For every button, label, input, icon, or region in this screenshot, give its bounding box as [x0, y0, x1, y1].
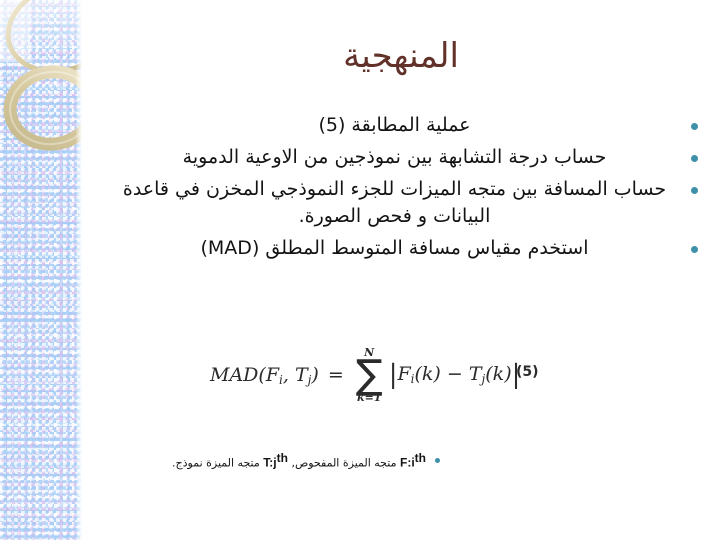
- equation-left-hand-side: MAD(Fi, Tj): [210, 364, 319, 387]
- slide-title: المنهجية: [82, 36, 720, 76]
- equation-term2: T: [469, 363, 482, 385]
- equation-function-name: MAD: [210, 364, 258, 386]
- footnote-text: F:ith متجه الميزة المفحوص, T:jth متجه ال…: [172, 450, 426, 471]
- equation-term1: F: [397, 363, 410, 385]
- footnote-t-description: متجه الميزة نموذج: [176, 457, 260, 470]
- equation-term2-argument: (k): [485, 363, 511, 385]
- footnote-t-label: T:: [263, 456, 273, 470]
- footnote: F:ith متجه الميزة المفحوص, T:jth متجه ال…: [172, 450, 440, 471]
- footnote-t-ordinal-suffix: th: [277, 451, 288, 465]
- equation-comma: ,: [283, 364, 289, 386]
- sigma-icon: ∑: [356, 359, 383, 392]
- footnote-f-description: متجه الميزة المفحوص: [295, 457, 397, 470]
- equation-number: (5): [516, 364, 539, 380]
- equation-arg2: T: [295, 364, 308, 386]
- list-item: حساب المسافة بين متجه الميزات للجزء النم…: [108, 176, 698, 230]
- band-right-edge-fade: [76, 0, 82, 540]
- bullet-dot-icon: [691, 123, 698, 130]
- list-item-label: حساب المسافة بين متجه الميزات للجزء النم…: [108, 176, 677, 230]
- list-item-label: استخدم مقياس مسافة المتوسط المطلق (MAD): [108, 235, 677, 262]
- equation-arg1: F: [266, 364, 279, 386]
- bullet-dot-icon: [691, 155, 698, 162]
- equation-block: MAD(Fi, Tj) = N ∑ k=1 |Fi(k) − Tj(k)| (5…: [210, 342, 580, 408]
- list-item: استخدم مقياس مسافة المتوسط المطلق (MAD): [108, 235, 698, 262]
- summation-operator: N ∑ k=1: [356, 347, 383, 404]
- list-item: عملية المطابقة (5): [108, 112, 698, 139]
- decorative-rings-graphic: [0, 0, 82, 200]
- bullet-dot-icon: [435, 458, 440, 463]
- list-item-label: حساب درجة التشابهة بين نموذجين من الاوعي…: [108, 144, 677, 171]
- bullet-dot-icon: [691, 187, 698, 194]
- footnote-f-label: F:: [400, 456, 411, 470]
- footnote-f-ordinal-suffix: th: [415, 451, 426, 465]
- list-item-label: عملية المطابقة (5): [108, 112, 677, 139]
- decorative-side-band: [0, 0, 82, 540]
- equation-paren-open: (: [258, 364, 265, 386]
- equation-term1-argument: (k): [414, 363, 440, 385]
- bullet-list: عملية المطابقة (5) حساب درجة التشابهة بي…: [108, 112, 698, 267]
- equation-paren-close: ): [311, 364, 318, 386]
- equation-minus-sign: −: [447, 363, 463, 385]
- slide: المنهجية عملية المطابقة (5) حساب درجة ال…: [0, 0, 720, 540]
- bullet-dot-icon: [691, 246, 698, 253]
- equation-right-hand-side: |Fi(k) − Tj(k)|: [389, 360, 521, 390]
- list-item: حساب درجة التشابهة بين نموذجين من الاوعي…: [108, 144, 698, 171]
- equation-equals-sign: =: [328, 364, 344, 386]
- summation-lower-limit: k=1: [357, 392, 382, 403]
